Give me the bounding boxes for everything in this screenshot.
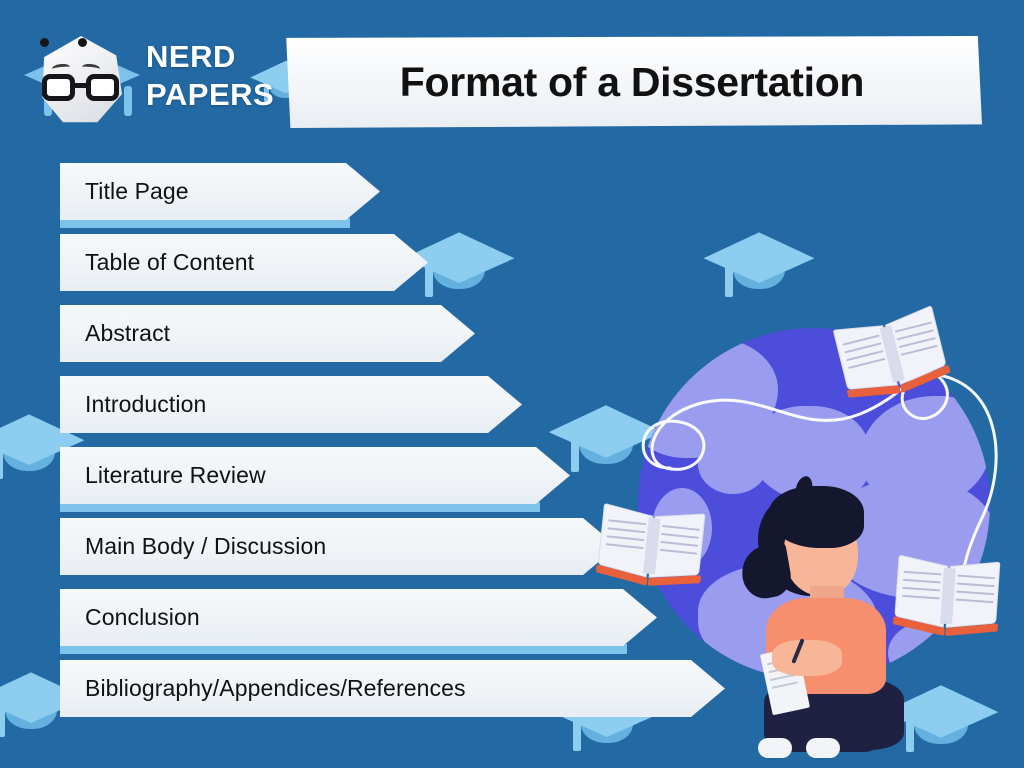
book-edge-right <box>648 575 701 586</box>
pupil-left-icon <box>40 38 49 47</box>
student-figure <box>730 490 920 760</box>
cap-base <box>733 248 785 289</box>
step-label: Title Page <box>60 178 189 205</box>
cap-tassel <box>571 427 579 472</box>
step-label: Conclusion <box>60 604 200 631</box>
logo-cap-tassel-right-icon <box>124 86 132 116</box>
sock-right <box>806 738 840 758</box>
infographic-canvas: NERD PAPERS Format of a Dissertation Tit… <box>0 0 1024 768</box>
brand-name-line1: NERD <box>146 39 236 74</box>
cap-board <box>700 216 818 310</box>
sock-left <box>758 738 792 758</box>
page-title: Format of a Dissertation <box>400 59 864 106</box>
step-item-4[interactable]: Introduction <box>60 376 522 433</box>
step-label: Table of Content <box>60 249 254 276</box>
cap-base <box>5 688 57 729</box>
cap-tassel <box>725 254 733 297</box>
cap-tassel-knot <box>425 248 431 254</box>
open-book-icon <box>596 501 708 589</box>
brand-wordmark: NERD PAPERS <box>146 38 274 114</box>
step-label: Literature Review <box>60 462 266 489</box>
step-item-7[interactable]: Conclusion <box>60 589 657 646</box>
brand-logo[interactable]: NERD PAPERS <box>22 30 277 130</box>
pupil-right-icon <box>78 38 87 47</box>
lens-right-icon <box>86 74 119 101</box>
cap-tassel-knot <box>0 430 1 436</box>
step-item-6[interactable]: Main Body / Discussion <box>60 518 617 575</box>
step-item-5[interactable]: Literature Review <box>60 447 570 504</box>
step-item-2[interactable]: Table of Content <box>60 234 428 291</box>
cap-tassel <box>0 436 3 479</box>
step-label: Main Body / Discussion <box>60 533 326 560</box>
glasses-bridge-icon <box>74 83 88 88</box>
lens-left-icon <box>42 74 75 101</box>
step-label: Introduction <box>60 391 206 418</box>
ponytail <box>738 542 794 602</box>
cap-tassel <box>0 694 5 737</box>
step-label: Abstract <box>60 320 170 347</box>
cap-base <box>433 248 485 289</box>
brand-name-line2: PAPERS <box>146 76 274 114</box>
cap-tassel-knot <box>571 421 578 428</box>
arm <box>772 640 842 676</box>
student-globe-illustration <box>600 300 1024 768</box>
glasses-icon <box>40 74 122 104</box>
cap-base <box>3 430 55 471</box>
title-banner: Format of a Dissertation <box>282 36 982 128</box>
step-item-3[interactable]: Abstract <box>60 305 475 362</box>
cap-tassel <box>425 254 433 297</box>
cap-mid-upper-right-icon <box>700 216 818 310</box>
cap-tassel-knot <box>725 248 731 254</box>
step-item-1[interactable]: Title Page <box>60 163 380 220</box>
paper-text-line <box>772 681 798 688</box>
cap-tassel-knot <box>0 688 3 694</box>
step-label: Bibliography/Appendices/References <box>60 675 466 702</box>
